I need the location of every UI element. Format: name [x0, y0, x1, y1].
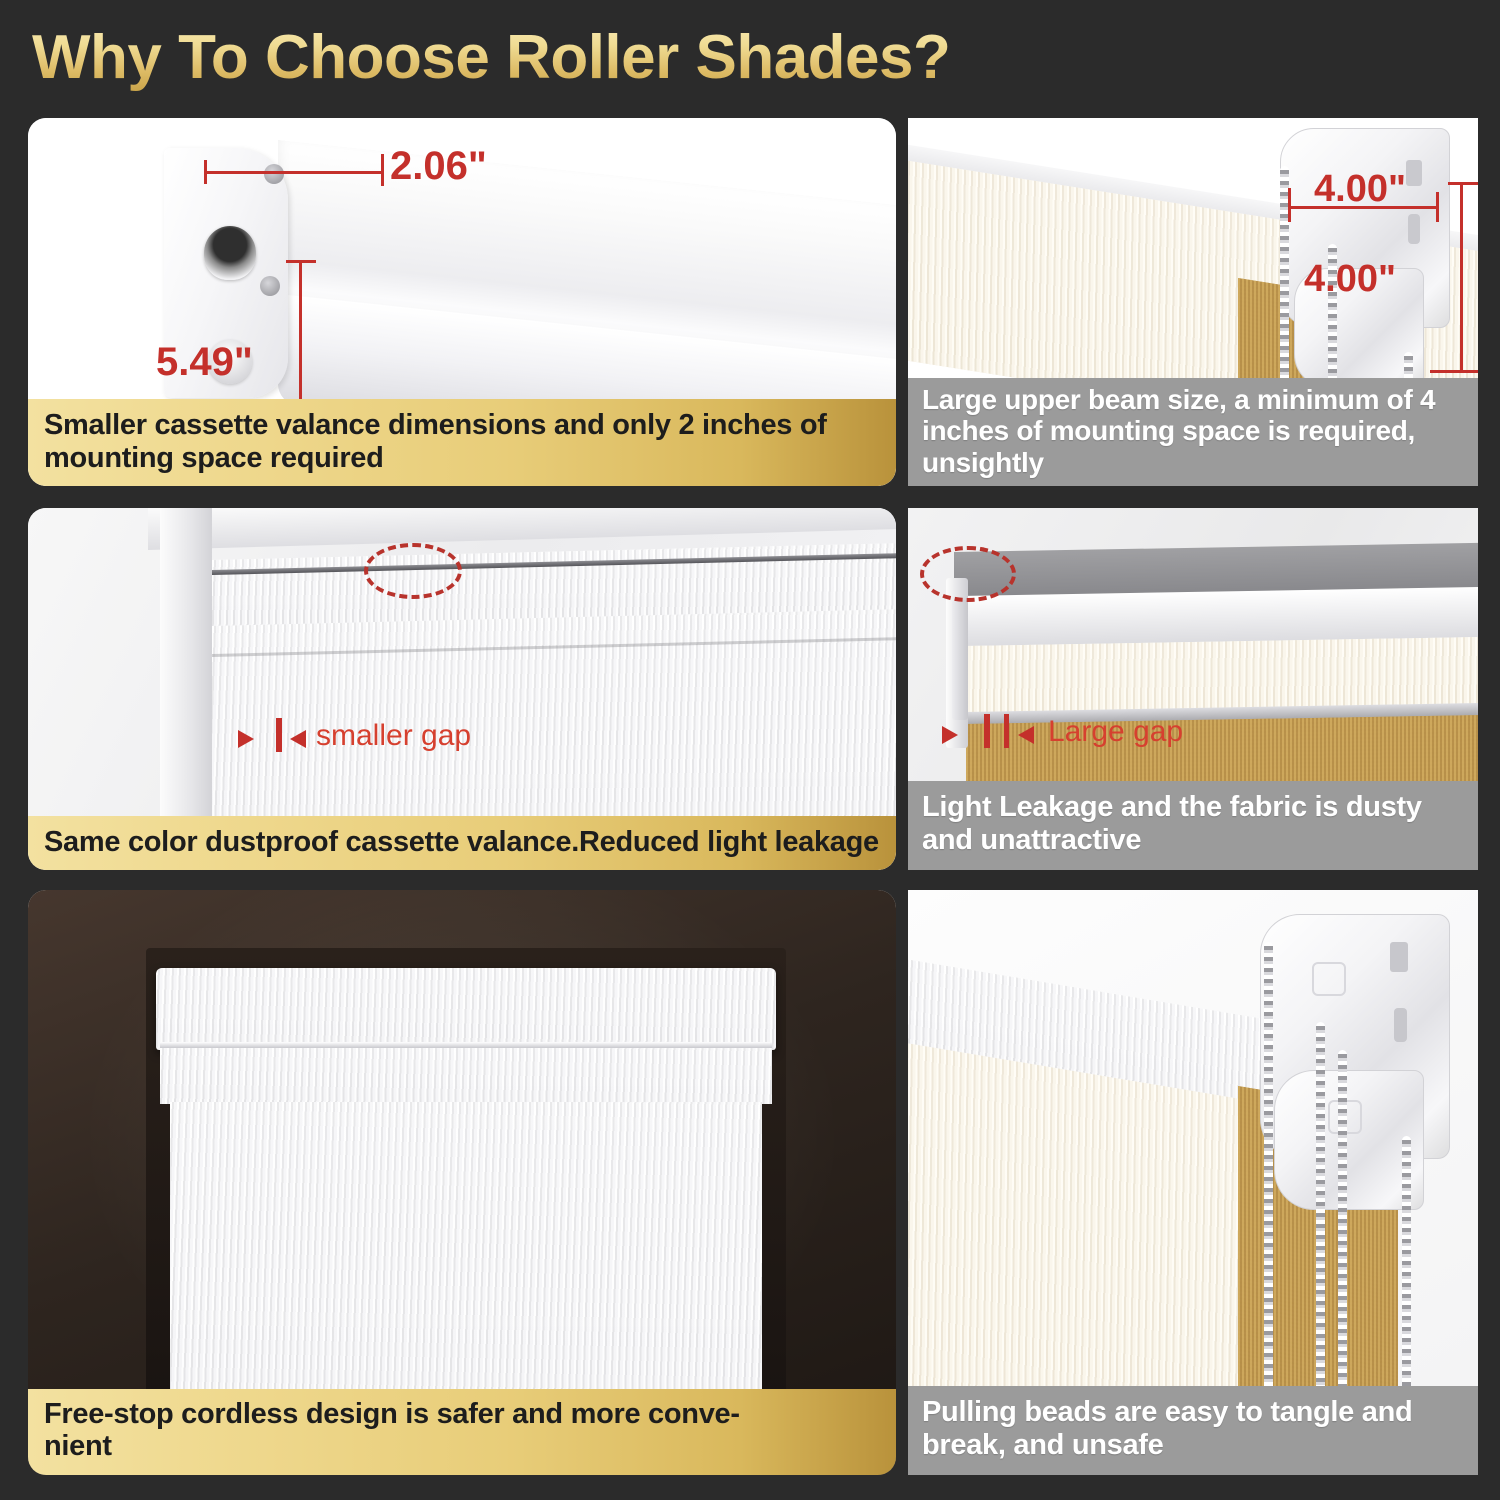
- panel-free-stop-cordless-design: Free-stop cordless design is safer and m…: [28, 890, 896, 1475]
- cassette-valance-head: [156, 968, 776, 1050]
- width-dim-line: [204, 171, 384, 174]
- panel-4-caption: Light Leakage and the fabric is dusty an…: [908, 781, 1478, 870]
- comparison-grid: 2.06" 5.49" Smaller cassette valance dim…: [0, 0, 1500, 1500]
- valance-seam-highlight: [364, 543, 462, 599]
- valance-mechanism-knob: [204, 226, 256, 280]
- panel-smaller-cassette-valance: 2.06" 5.49" Smaller cassette valance dim…: [28, 118, 896, 486]
- panel-3-caption: Same color dustproof cassette valance.Re…: [28, 816, 896, 870]
- shade-fabric-body: [170, 1102, 762, 1432]
- gap-marker-a: [984, 714, 990, 748]
- gap-highlight-circle: [920, 546, 1016, 602]
- height-dim-label: 5.49": [156, 340, 253, 385]
- gap-arrow-right: [290, 730, 306, 748]
- panel-light-leakage-dusty-fabric: Large gap Light Leakage and the fabric i…: [908, 508, 1478, 870]
- bracket-slot-mid: [1394, 1008, 1407, 1042]
- bracket-clip: [952, 600, 968, 720]
- beam-height-label: 4.00": [1304, 258, 1396, 301]
- height-dim-tick-top: [286, 260, 316, 263]
- bracket-slot-top: [1390, 942, 1408, 972]
- valance-divider-line: [160, 1042, 772, 1048]
- gap-arrow-right: [1018, 726, 1034, 744]
- panel-5-caption: Free-stop cordless design is safer and m…: [28, 1389, 896, 1475]
- gap-label: smaller gap: [316, 719, 471, 753]
- beam-width-tick-left: [1288, 188, 1291, 222]
- beam-width-label: 4.00": [1314, 168, 1406, 211]
- panel-1-caption: Smaller cassette valance dimensions and …: [28, 399, 896, 486]
- panel-pulling-beads-tangle: Pulling beads are easy to tangle and bre…: [908, 890, 1478, 1475]
- valance-screw-mid: [260, 276, 280, 296]
- gap-label: Large gap: [1048, 715, 1183, 749]
- width-dim-label: 2.06": [390, 144, 487, 189]
- gap-marker-b: [1004, 714, 1009, 748]
- bracket-slot-1: [1406, 160, 1422, 186]
- panel-5-caption-line2: nient: [44, 1431, 882, 1463]
- panel-dustproof-cassette-valance: smaller gap Same color dustproof cassett…: [28, 508, 896, 870]
- beam-width-tick-right: [1436, 192, 1439, 222]
- bracket-emblem-top: [1312, 962, 1346, 996]
- panel-2-caption: Large upper beam size, a minimum of 4 in…: [908, 378, 1478, 486]
- panel-5-caption-line1: Free-stop cordless design is safer and m…: [44, 1399, 882, 1431]
- gap-marker: [276, 718, 282, 752]
- panel-5-photo: [28, 890, 896, 1475]
- beam-height-dim-line: [1460, 182, 1463, 372]
- width-dim-tick-right: [381, 154, 384, 186]
- valance-screw-top: [264, 164, 284, 184]
- gap-arrow-left: [942, 726, 958, 744]
- width-dim-tick-left: [204, 160, 207, 184]
- beam-height-tick-top: [1448, 182, 1478, 185]
- panel-6-caption: Pulling beads are easy to tangle and bre…: [908, 1386, 1478, 1475]
- bracket-slot-2: [1408, 214, 1420, 244]
- gap-arrow-left: [238, 730, 254, 748]
- valance-lower-section: [160, 1048, 772, 1104]
- panel-large-upper-beam: 4.00" 4.00" Large upper beam size, a min…: [908, 118, 1478, 486]
- beam-height-tick-bottom: [1430, 370, 1478, 373]
